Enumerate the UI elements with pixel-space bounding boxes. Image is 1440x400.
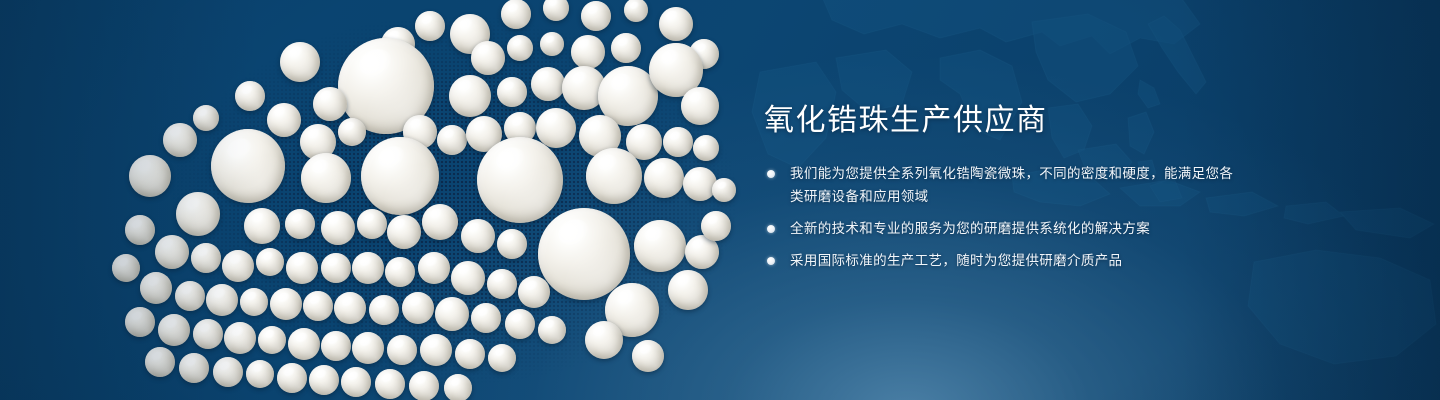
bullet-dot-icon xyxy=(767,225,775,233)
feature-list-item: 全新的技术和专业的服务为您的研磨提供系统化的解决方案 xyxy=(764,217,1234,240)
feature-list-item: 采用国际标准的生产工艺，随时为您提供研磨介质产品 xyxy=(764,249,1234,272)
bullet-dot-icon xyxy=(767,170,775,178)
hero-banner: 氧化锆珠生产供应商 我们能为您提供全系列氧化锆陶瓷微珠，不同的密度和硬度，能满足… xyxy=(0,0,1440,400)
feature-text: 我们能为您提供全系列氧化锆陶瓷微珠，不同的密度和硬度，能满足您各类研磨设备和应用… xyxy=(790,166,1233,204)
feature-list: 我们能为您提供全系列氧化锆陶瓷微珠，不同的密度和硬度，能满足您各类研磨设备和应用… xyxy=(764,162,1234,272)
banner-content: 氧化锆珠生产供应商 我们能为您提供全系列氧化锆陶瓷微珠，不同的密度和硬度，能满足… xyxy=(764,104,1234,272)
feature-text: 采用国际标准的生产工艺，随时为您提供研磨介质产品 xyxy=(790,253,1122,268)
banner-title: 氧化锆珠生产供应商 xyxy=(764,104,1234,138)
bullet-dot-icon xyxy=(767,257,775,265)
feature-list-item: 我们能为您提供全系列氧化锆陶瓷微珠，不同的密度和硬度，能满足您各类研磨设备和应用… xyxy=(764,162,1234,208)
feature-text: 全新的技术和专业的服务为您的研磨提供系统化的解决方案 xyxy=(790,221,1150,236)
